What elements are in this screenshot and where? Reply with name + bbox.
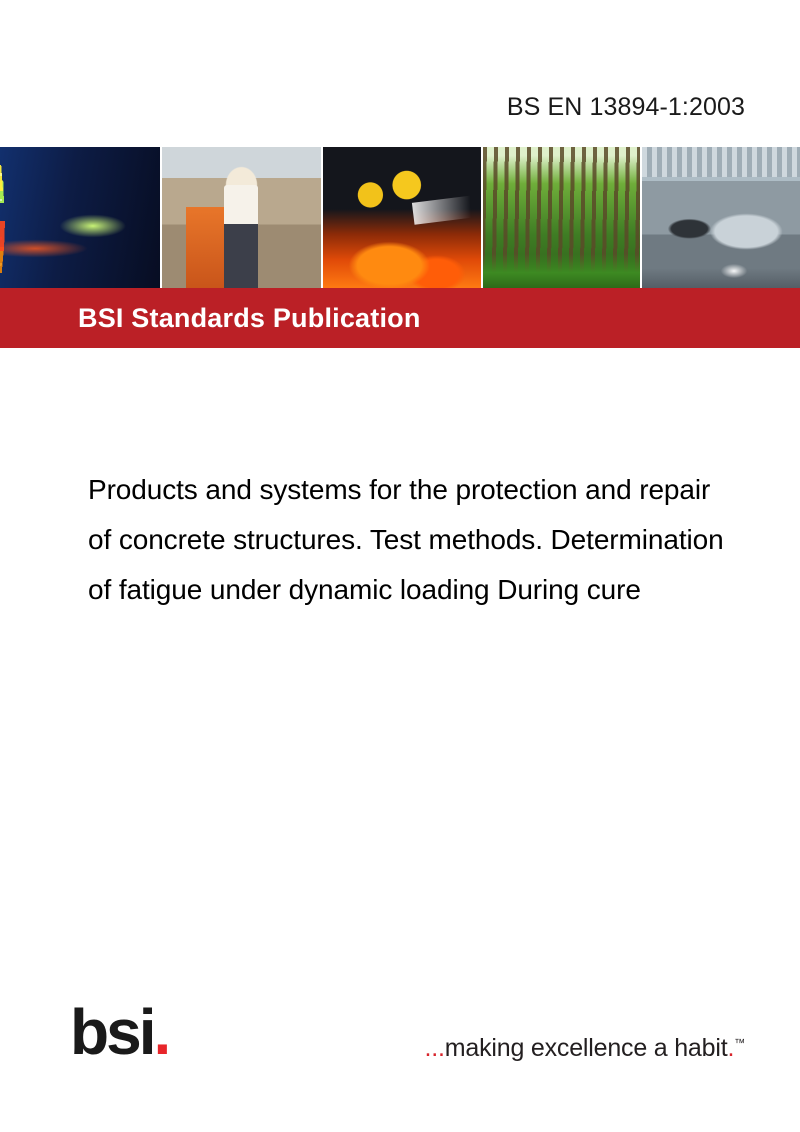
photo-panel-warehouse-worker — [162, 147, 322, 288]
standard-number: BS EN 13894-1:2003 — [0, 93, 745, 122]
title-line-2: of concrete structures. Test methods. De… — [88, 515, 800, 565]
photo-panel-forest — [483, 147, 641, 288]
cover-photo-strip — [0, 147, 800, 288]
banner-label: BSI Standards Publication — [78, 303, 421, 334]
publication-title: Products and systems for the protection … — [88, 465, 800, 615]
photo-panel-firefighters — [323, 147, 481, 288]
photo-panel-traffic-light-trails — [0, 147, 160, 288]
photo-panel-car-assembly-line — [642, 147, 800, 288]
bsi-standards-banner: BSI Standards Publication — [0, 288, 800, 348]
bsi-tagline: ...making excellence a habit.™ — [425, 1034, 745, 1063]
title-line-1: Products and systems for the protection … — [88, 465, 800, 515]
bsi-logo-dot: . — [153, 996, 168, 1068]
tagline-text: making excellence a habit — [445, 1034, 728, 1062]
document-cover-page: BS EN 13894-1:2003 BSI Standards Publica… — [0, 0, 800, 1132]
bsi-logo: bsi. — [70, 1000, 168, 1064]
tagline-leading-ellipsis: ... — [425, 1034, 445, 1062]
title-line-3: of fatigue under dynamic loading During … — [88, 565, 800, 615]
trademark-symbol: ™ — [734, 1038, 745, 1050]
bsi-logo-text: bsi — [70, 996, 153, 1068]
